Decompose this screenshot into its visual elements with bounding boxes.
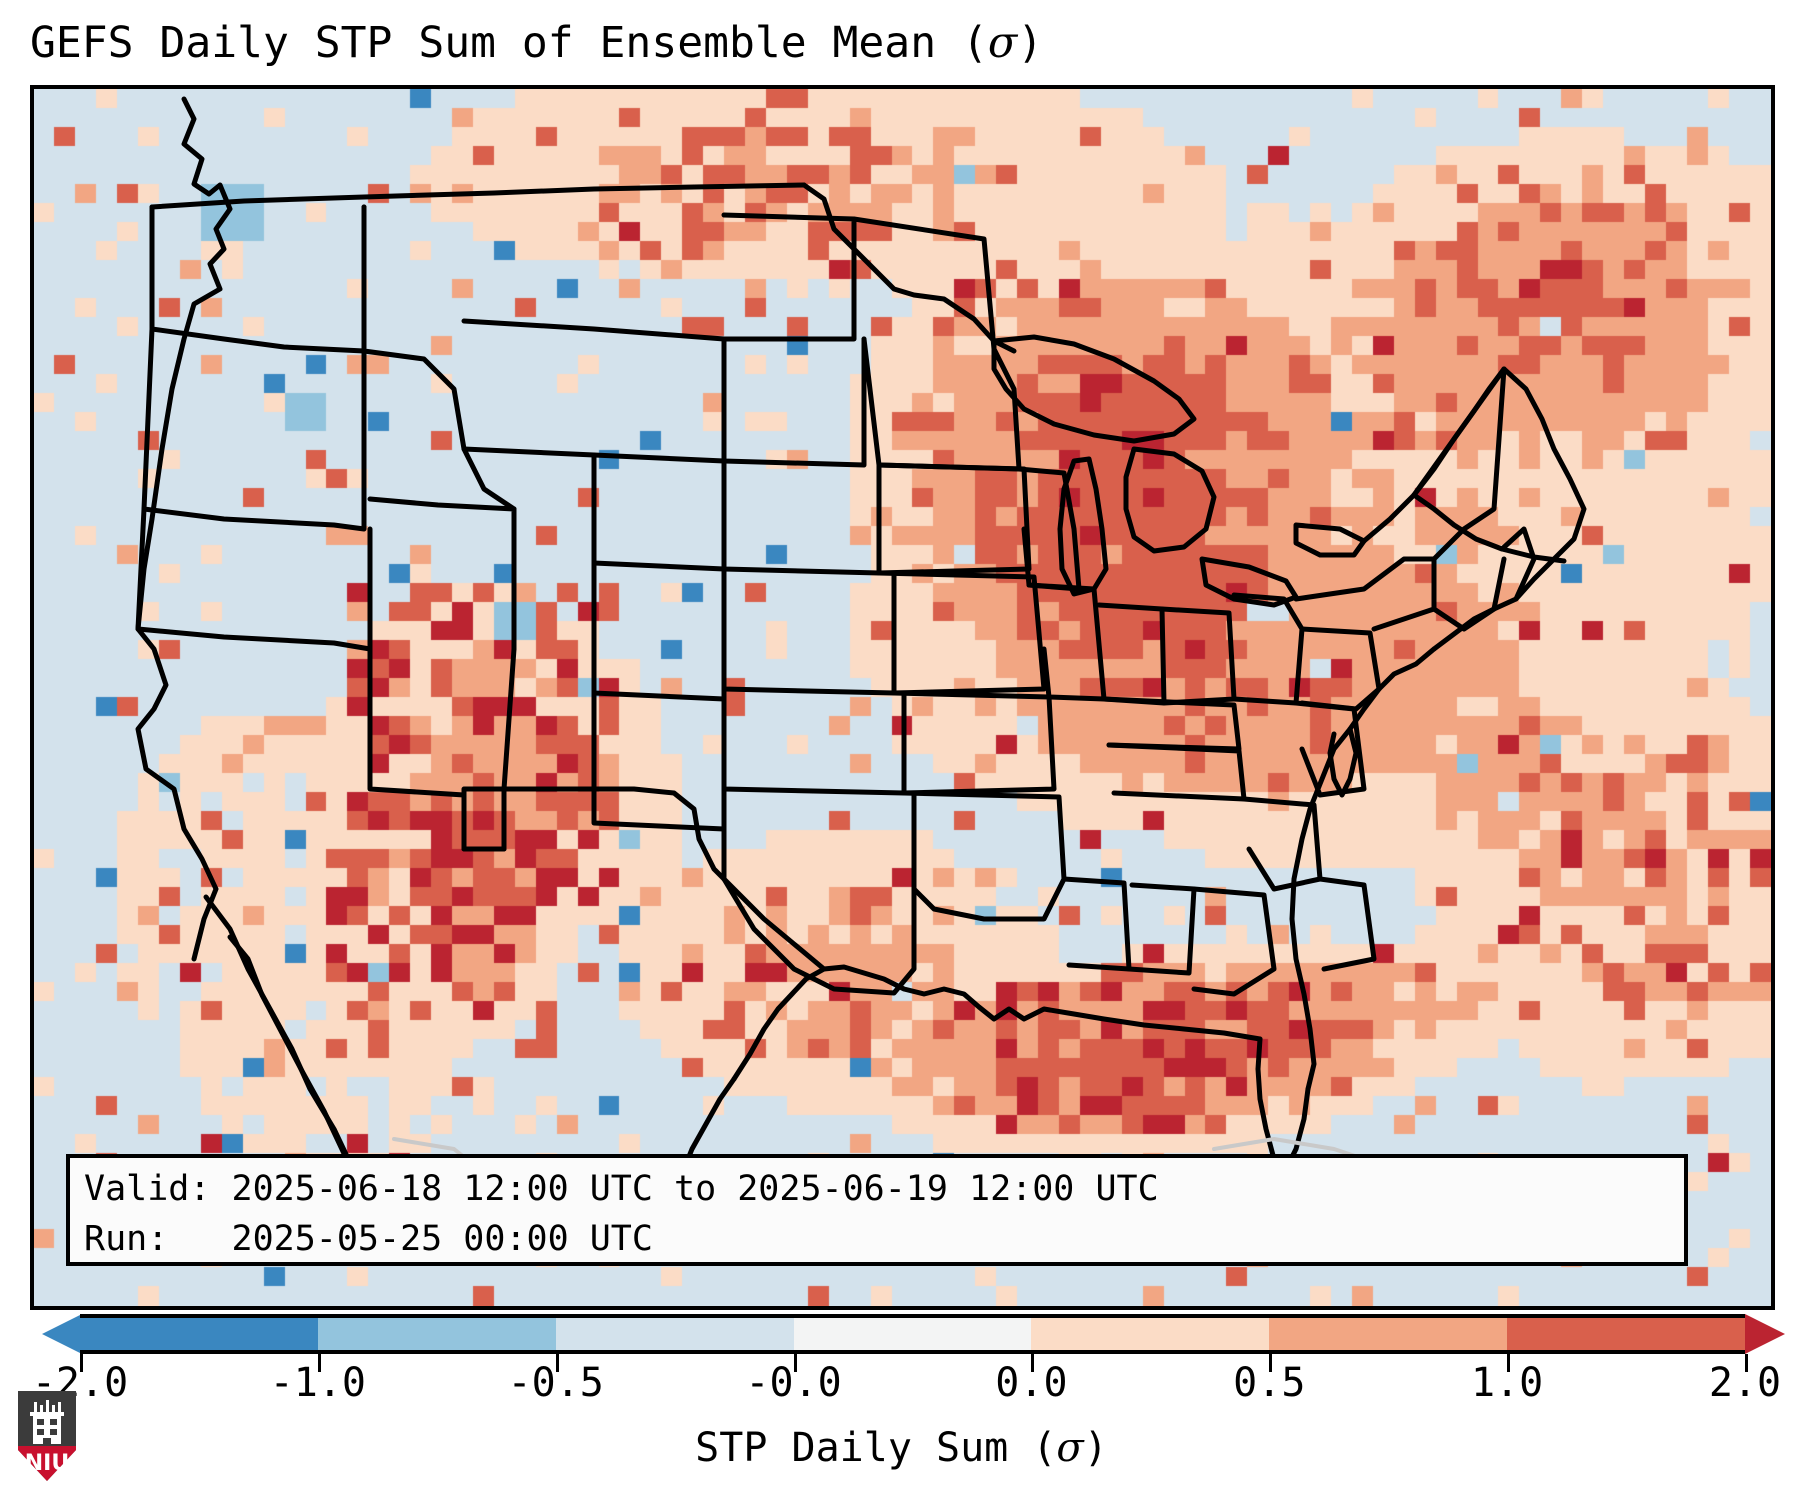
valid-run-infobox: Valid: 2025-06-18 12:00 UTC to 2025-06-1… [66,1154,1688,1266]
valid-line: Valid: 2025-06-18 12:00 UTC to 2025-06-1… [84,1164,1670,1214]
sigma-symbol: σ [988,18,1017,68]
niu-logo: NIU [16,1388,78,1484]
title-text: GEFS Daily STP Sum of Ensemble Mean ( [30,18,988,68]
colorbar-tick-label-4: 0.0 [995,1360,1067,1406]
cb-label-prefix: STP Daily Sum ( [695,1425,1056,1471]
colorbar-extend-over-arrow [1745,1314,1785,1354]
colorbar-segment-1 [318,1318,556,1350]
colorbar[interactable] [0,1314,1803,1360]
colorbar-segment-6 [1507,1318,1745,1350]
colorbar-extend-under-arrow [42,1314,82,1354]
cb-sigma-symbol: σ [1056,1425,1083,1471]
colorbar-segment-3 [794,1318,1032,1350]
colorbar-segment-5 [1269,1318,1507,1350]
title-suffix: ) [1017,18,1043,68]
colorbar-axis-label: STP Daily Sum (σ) [0,1425,1803,1471]
page-title: GEFS Daily STP Sum of Ensemble Mean (σ) [30,18,1043,68]
colorbar-tick-labels: -2.0-1.0-0.5-0.00.00.51.02.0 [0,1360,1803,1410]
cb-label-suffix: ) [1084,1425,1108,1471]
colorbar-segment-0 [80,1318,318,1350]
colorbar-segments[interactable] [80,1314,1745,1354]
colorbar-tick-label-6: 1.0 [1471,1360,1543,1406]
colorbar-tick-label-3: -0.0 [745,1360,841,1406]
colorbar-tick-label-1: -1.0 [270,1360,366,1406]
colorbar-tick-label-5: 0.5 [1233,1360,1305,1406]
colorbar-tick-label-2: -0.5 [508,1360,604,1406]
colorbar-tick-label-7: 2.0 [1709,1360,1781,1406]
niu-logo-text: NIU [25,1451,69,1476]
colorbar-segment-4 [1031,1318,1269,1350]
run-line: Run: 2025-05-25 00:00 UTC [84,1214,1670,1264]
colorbar-segment-2 [556,1318,794,1350]
map-panel[interactable]: Valid: 2025-06-18 12:00 UTC to 2025-06-1… [30,85,1775,1310]
stp-anomaly-heatmap [34,89,1771,1306]
figure-root: GEFS Daily STP Sum of Ensemble Mean (σ) … [0,0,1803,1506]
